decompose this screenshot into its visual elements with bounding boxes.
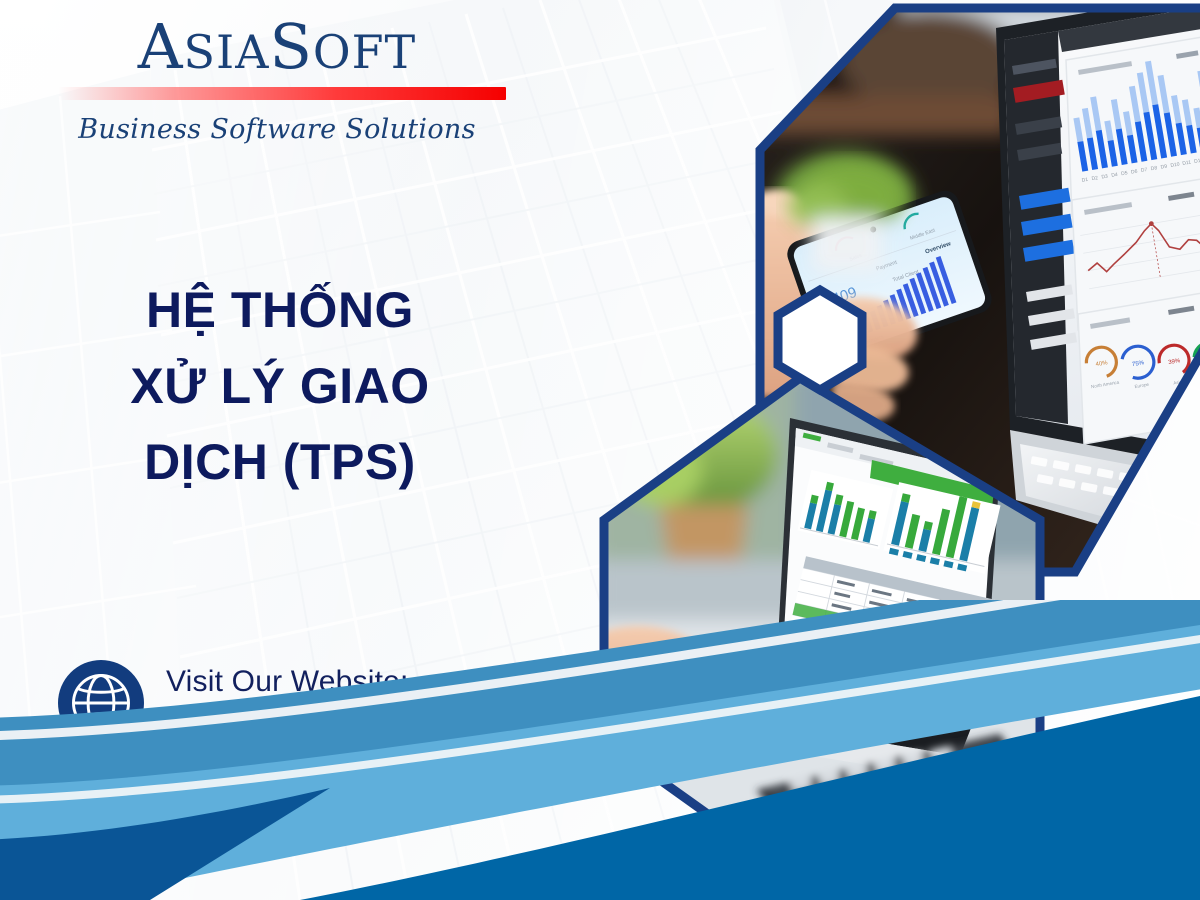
svg-text:D2: D2: [1091, 175, 1099, 182]
logo-red-rule: [58, 87, 506, 100]
svg-text:D1: D1: [1081, 177, 1089, 184]
marketing-banner: D1D2D3 D4D5D6 D7D8D9 D10D11D12 D13D14D15: [0, 0, 1200, 900]
logo-letter-a: A: [138, 10, 184, 83]
svg-text:D8: D8: [1150, 165, 1158, 172]
svg-text:D9: D9: [1160, 164, 1168, 171]
svg-text:D6: D6: [1131, 169, 1139, 176]
logo-letters-oft: OFT: [313, 25, 416, 79]
logo-letter-s: S: [269, 10, 312, 83]
logo-wordmark: ASIASOFT: [42, 14, 512, 79]
logo-letters-sia: SIA: [184, 25, 270, 79]
svg-text:D7: D7: [1140, 167, 1148, 174]
svg-text:D4: D4: [1111, 172, 1119, 179]
svg-text:D5: D5: [1121, 170, 1129, 177]
wave-decoration: [0, 600, 1200, 900]
title-line-2: XỬ LÝ GIAO: [30, 348, 530, 424]
svg-text:D3: D3: [1101, 173, 1109, 180]
title-line-1: HỆ THỐNG: [30, 272, 530, 348]
svg-text:D12: D12: [1194, 158, 1200, 165]
hexagon-accent-small: [778, 290, 862, 390]
title-line-3: DỊCH (TPS): [30, 424, 530, 500]
brand-logo: ASIASOFT Business Software Solutions: [42, 14, 512, 145]
logo-tagline: Business Software Solutions: [42, 114, 512, 145]
page-title: HỆ THỐNG XỬ LÝ GIAO DỊCH (TPS): [30, 272, 530, 500]
